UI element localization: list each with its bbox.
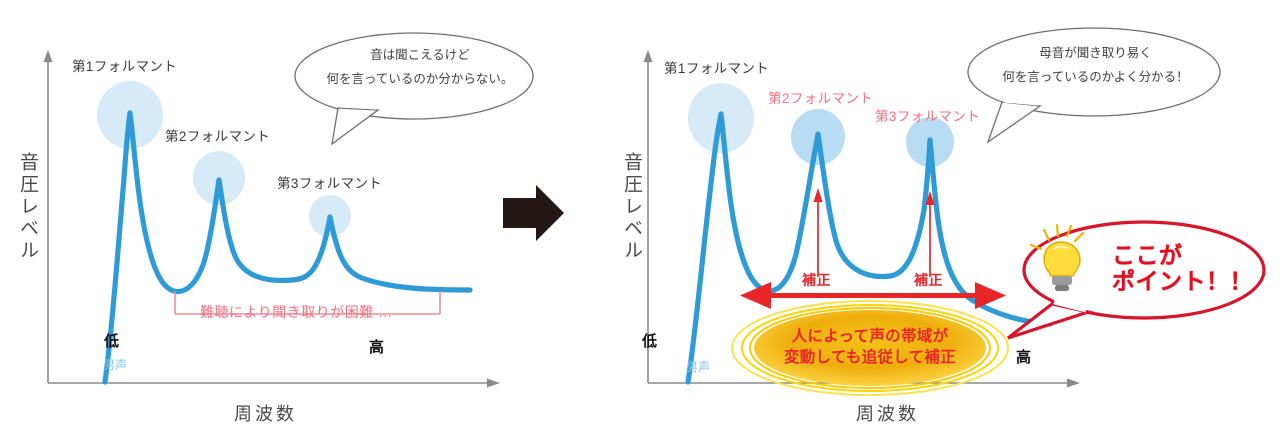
highlight-line2: 変動しても追従して補正 [754,348,986,369]
difficulty-note: 難聴により聞き取りが困難 … [200,302,393,322]
male-voice-label: 男声 [686,358,710,375]
left-bubble-text: 音は聞こえるけど 何を言っているのか分からない。 [300,44,540,92]
axis-low-label: 低 [642,330,657,351]
highlight-oval-text: 人によって声の帯域が 変動しても追従して補正 [754,327,986,369]
highlight-line1: 人によって声の帯域が [754,327,986,348]
point-callout-text: ここが ポイント！！ [1112,242,1262,295]
correction-arrow-1 [814,188,823,277]
point-line1: ここが [1112,242,1262,268]
correction-arrow-2 [926,191,935,277]
point-line2: ポイント！！ [1112,268,1262,294]
formant1-label: 第1フォルマント [72,58,177,76]
x-axis-label: 周波数 [234,400,297,426]
left-bubble-line1: 音は聞こえるけど [300,44,540,68]
right-panel-after: 音圧レベル 周波数 第1フォルマント 第2フォルマント 第3フォルマント 補正 … [620,0,1280,443]
y-axis-label: 音圧レベル [14,152,41,262]
left-bubble-line2: 何を言っているのか分からない。 [300,68,540,92]
right-bubble-line2: 何を言っているのかよく分かる！ [968,66,1223,90]
formant3-label: 第3フォルマント [277,175,382,193]
right-bubble-text: 母音が聞き取り易く 何を言っているのかよく分かる！ [968,42,1223,90]
right-bubble-line1: 母音が聞き取り易く [968,42,1223,66]
correction-label-1: 補正 [802,270,831,290]
axis-high-label: 高 [369,336,384,357]
infographic-stage: 音圧レベル 周波数 第1フォルマント 第2フォルマント 第3フォルマント 難聴に… [0,0,1280,443]
formant1-label: 第1フォルマント [664,60,769,78]
x-axis-label: 周波数 [856,400,919,426]
transition-arrow-icon [500,182,570,248]
formant2-label: 第2フォルマント [165,128,270,146]
y-axis-label: 音圧レベル [618,152,645,262]
male-voice-label: 男声 [103,356,127,373]
formant2-label: 第2フォルマント [768,90,873,108]
axis-low-label: 低 [104,330,119,351]
correction-label-2: 補正 [914,270,943,290]
axis-high-label: 高 [1016,346,1031,367]
